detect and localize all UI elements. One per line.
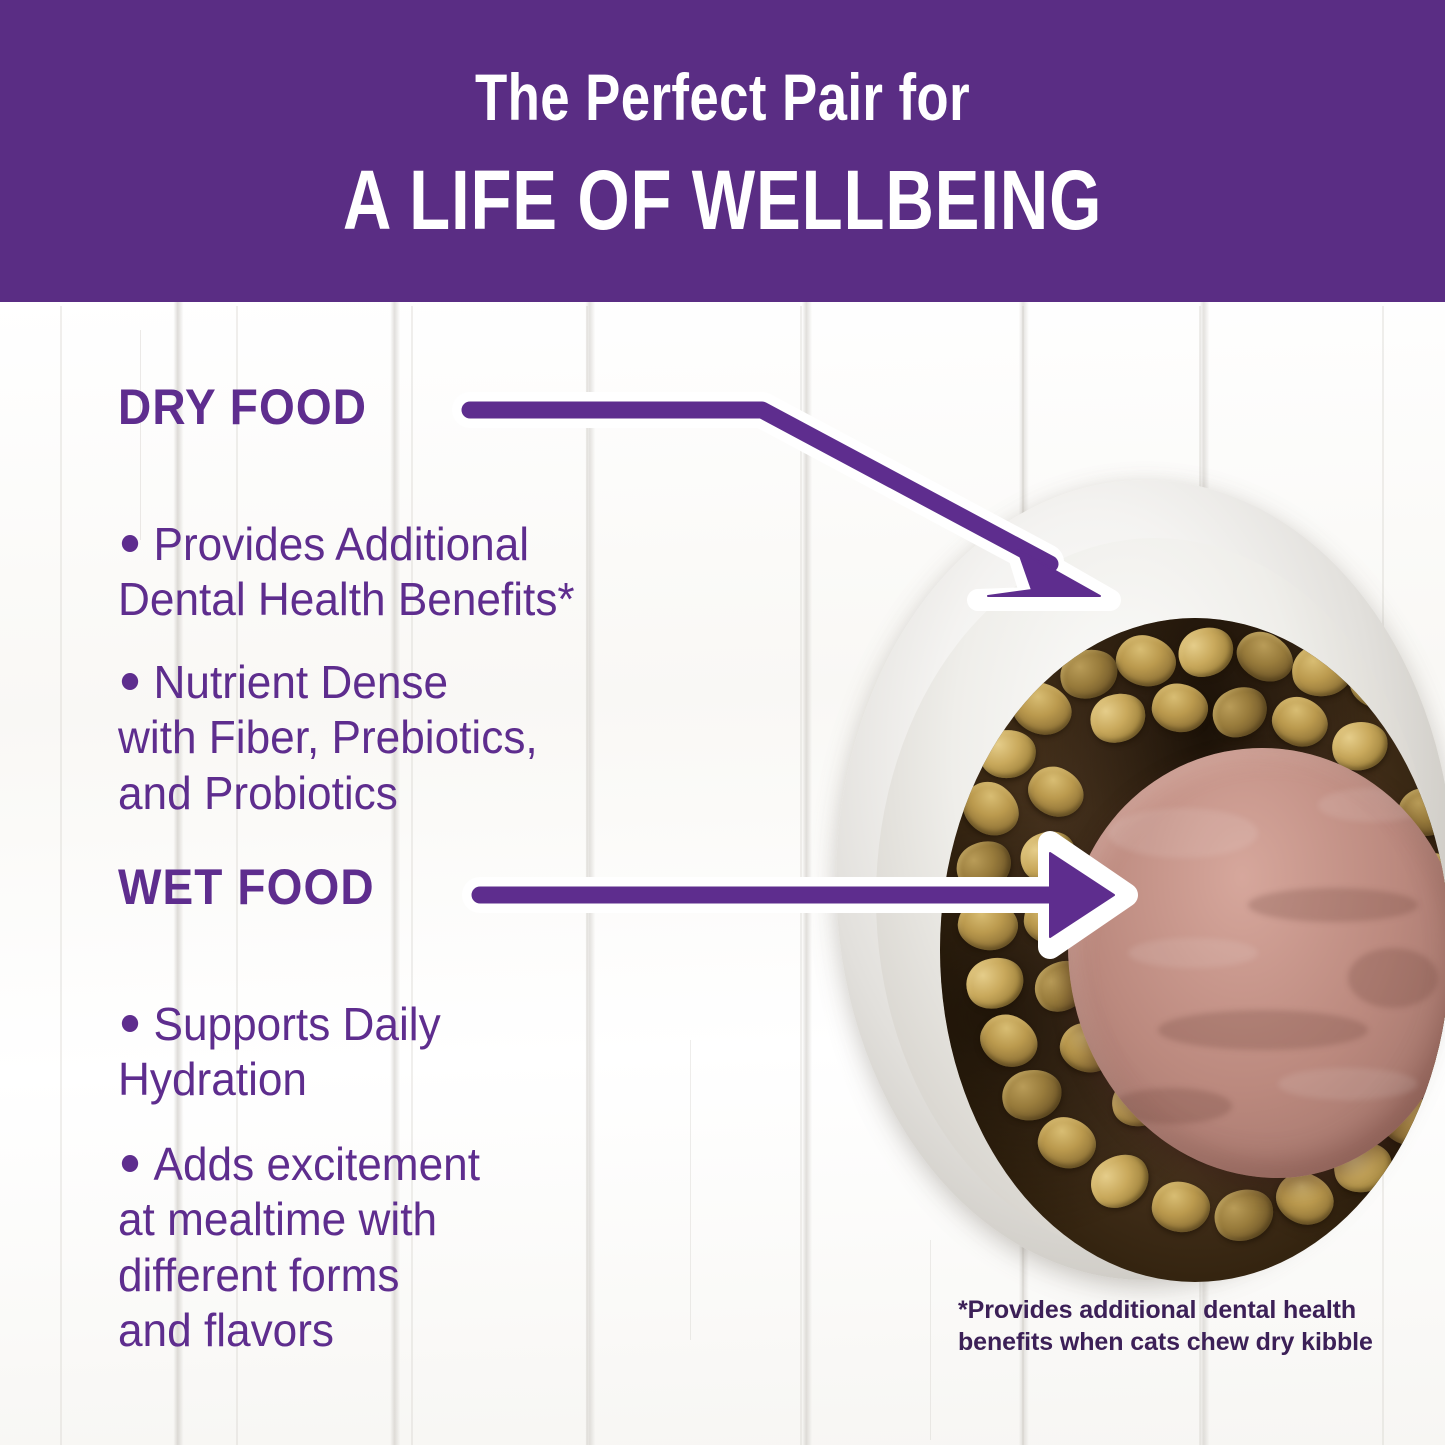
wet-food-pate [1068,748,1445,1178]
header-band: The Perfect Pair for A LIFE OF WELLBEING [0,0,1445,302]
promo-infographic: The Perfect Pair for A LIFE OF WELLBEING [0,0,1445,1445]
section-heading-dry-food: DRY FOOD [118,382,367,432]
bullet-dot-icon [122,535,138,552]
bullet-item-dry-2: Nutrient Dense with Fiber, Prebiotics, a… [118,600,752,821]
bullet-dot-icon [122,1015,138,1032]
pate-highlight [1318,788,1428,822]
bullet-dot-icon [122,1155,138,1172]
pet-bowl-photo [826,440,1445,1270]
pate-crevice [1112,1088,1232,1124]
plank-seam [60,306,62,1445]
pate-highlight [1128,938,1258,968]
footnote-disclaimer: *Provides additional dental health benef… [958,1295,1388,1358]
bullet-text: Adds excitement at mealtime with differe… [118,1138,480,1356]
plank-seam [800,306,802,1445]
wood-grain-streak [930,1240,931,1440]
bowl-inner-rim [876,538,1434,1258]
pate-crevice [1248,888,1418,922]
pate-highlight [1278,1068,1418,1100]
header-title-line1: The Perfect Pair for [145,64,1301,130]
bowl-interior [940,618,1445,1282]
bullet-dot-icon [122,673,138,690]
bowl-outer-rim [836,480,1445,1280]
section-heading-wet-food: WET FOOD [118,862,375,912]
bullet-item-wet-2: Adds excitement at mealtime with differe… [118,1082,713,1358]
pate-crevice [1348,948,1438,1008]
bullet-text: Nutrient Dense with Fiber, Prebiotics, a… [118,656,538,818]
header-title-line2: A LIFE OF WELLBEING [145,158,1301,242]
pate-highlight [1108,808,1258,858]
pate-crevice [1158,1010,1368,1050]
